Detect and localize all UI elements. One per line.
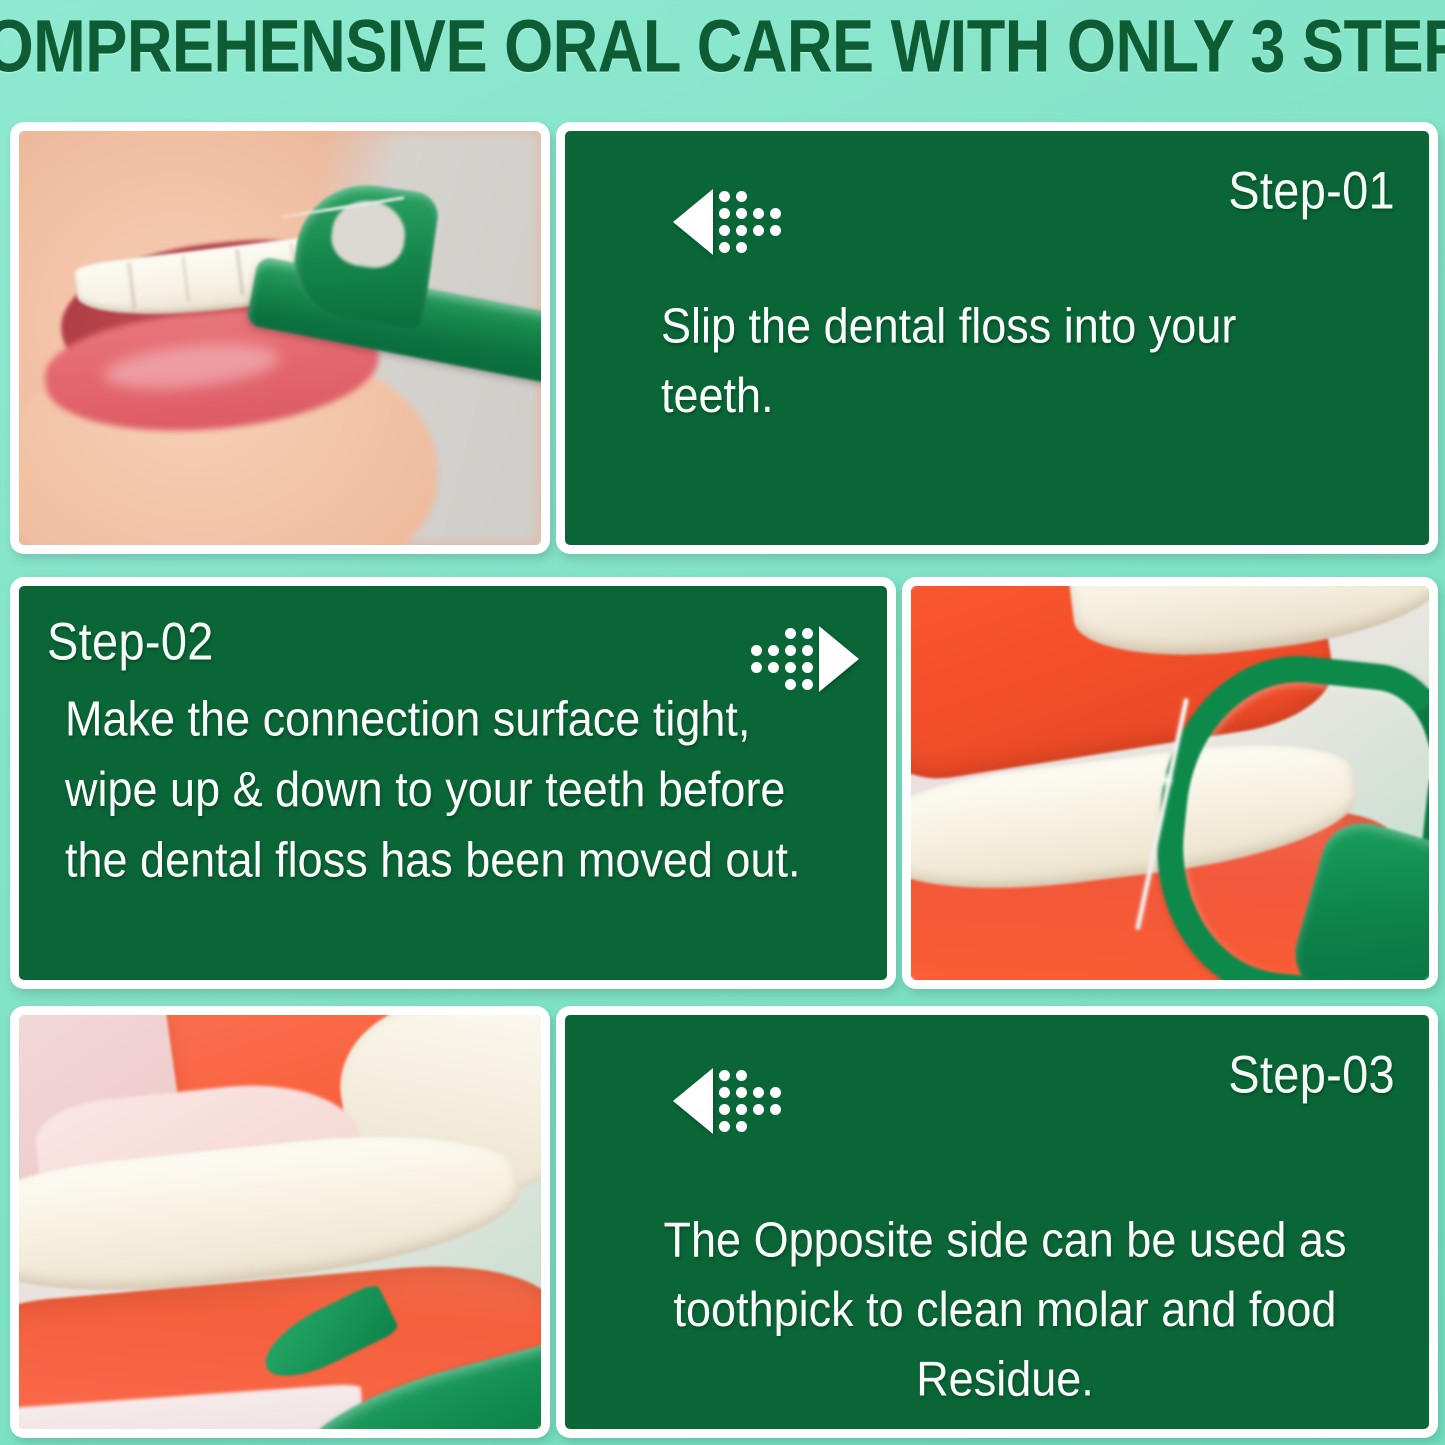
step-3-text-panel: Step-03 The Opposite side can be used as… [556,1006,1438,1438]
step-2-text-panel: Step-02 Make the connection surface tigh… [10,577,896,989]
step-2-photo-panel [902,577,1438,989]
step-1-arrow-decoration [673,189,781,255]
step-1-label: Step-01 [1228,159,1395,221]
triangle-right-icon [819,626,859,692]
triangle-left-icon [673,189,713,255]
step-3-label: Step-03 [1228,1043,1395,1105]
page-title: COMPREHENSIVE ORAL CARE WITH ONLY 3 STEP… [0,3,1445,88]
step-1-photo-panel [10,122,550,554]
step-2-photo [911,586,1429,980]
tooth-gap [236,249,244,295]
triangle-left-icon [673,1068,713,1134]
tooth-gap [182,256,190,302]
dot-grid-icon [751,628,813,690]
step-3-body-text: The Opposite side can be used as toothpi… [625,1205,1385,1413]
infographic-page: COMPREHENSIVE ORAL CARE WITH ONLY 3 STEP… [0,0,1445,1445]
step-2-body-text: Make the connection surface tight, wipe … [65,684,855,895]
tooth-gap [128,262,136,308]
dot-grid-icon [719,1070,781,1132]
step-1-body-text: Slip the dental floss into your teeth. [661,291,1361,430]
page-title-bar: COMPREHENSIVE ORAL CARE WITH ONLY 3 STEP… [0,0,1445,92]
step-2-arrow-decoration [751,626,859,692]
step-2-label: Step-02 [47,610,214,672]
step-3-arrow-decoration [673,1068,781,1134]
step-3-photo-panel [10,1006,550,1438]
step-1-text-panel: Step-01 Slip the dental floss into your … [556,122,1438,554]
step-3-photo [19,1015,541,1429]
dot-grid-icon [719,191,781,253]
step-1-photo [19,131,541,545]
